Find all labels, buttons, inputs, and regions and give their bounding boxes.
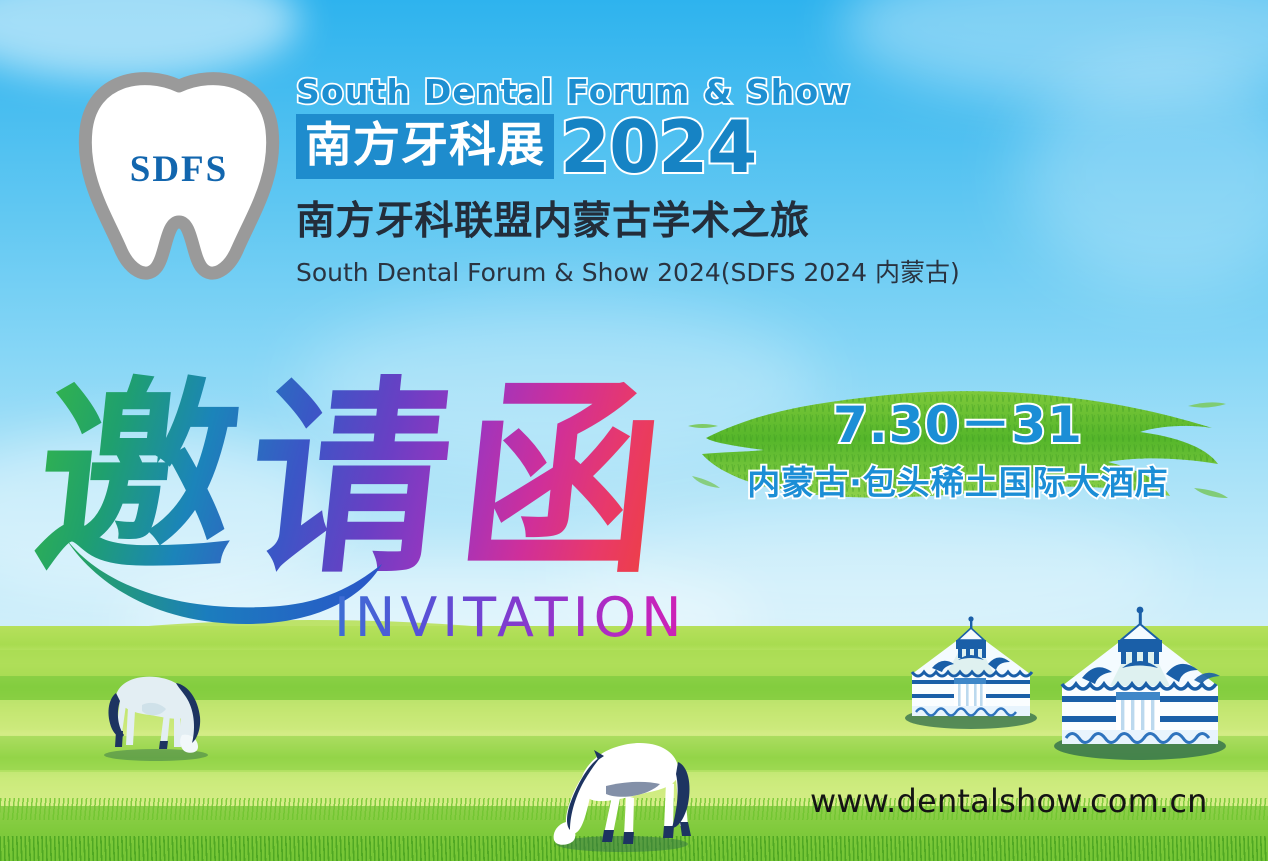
title-chinese-badge: 南方牙科展 [296,114,554,179]
event-venue: 内蒙古·包头稀土国际大酒店 [688,456,1228,504]
website-url: www.dentalshow.com.cn [810,782,1208,820]
invitation-label: INVITATION [334,586,687,649]
invitation-poster: SDFS South Dental Forum & Show 南方牙科展 202… [0,0,1268,861]
yurt-far [898,614,1044,730]
event-dates: 7.30－31 [688,398,1228,452]
logo-acronym: SDFS [74,148,284,191]
subtitle-english: South Dental Forum & Show 2024(SDFS 2024… [296,253,996,289]
horse-center [540,726,700,856]
title-row: 南方牙科展 2024 [296,114,996,179]
event-year: 2024 [560,116,756,179]
subtitle-chinese: 南方牙科联盟内蒙古学术之旅 [296,190,996,246]
event-date-block: 7.30－31 内蒙古·包头稀土国际大酒店 [688,398,1228,504]
horse-left [98,655,222,763]
header-block: South Dental Forum & Show 南方牙科展 2024 南方牙… [296,74,996,289]
tooth-logo: SDFS [74,72,284,284]
yurt-near [1046,604,1234,762]
